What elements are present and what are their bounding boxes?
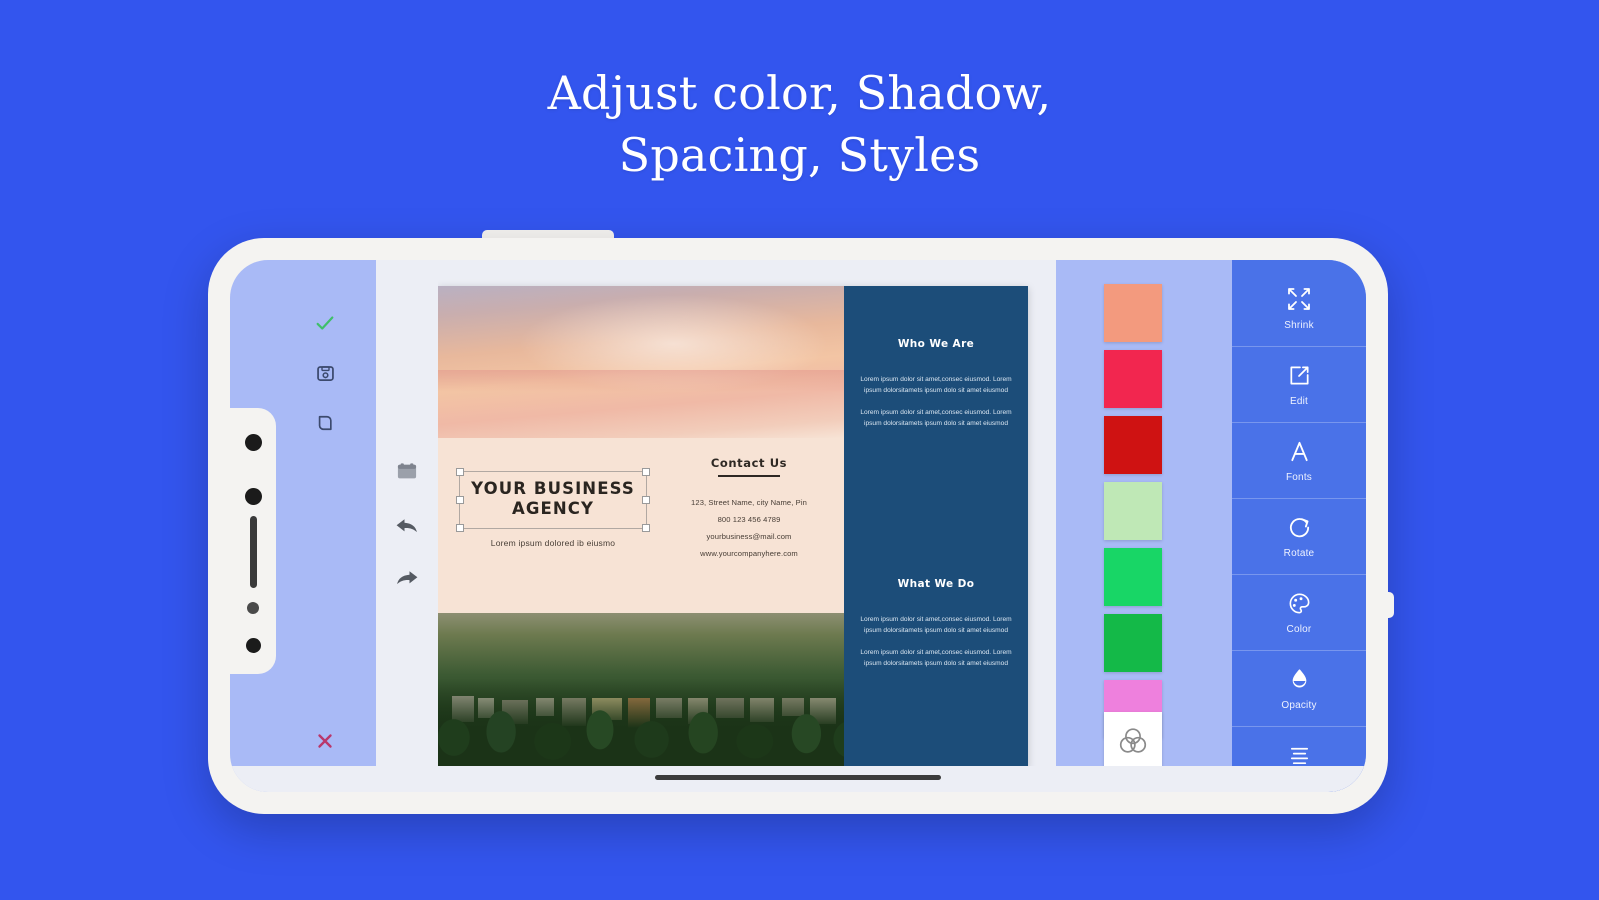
cityscape-photo bbox=[438, 613, 844, 768]
prop-label: Shrink bbox=[1284, 320, 1314, 331]
contact-heading: Contact Us bbox=[666, 456, 832, 470]
ambient-sensor-icon bbox=[246, 638, 261, 653]
shrink-arrows-icon bbox=[1286, 286, 1312, 312]
canvas-toolbar bbox=[376, 260, 438, 792]
front-camera-icon bbox=[245, 434, 262, 451]
color-swatch-salmon[interactable] bbox=[1104, 284, 1162, 342]
phone-device-frame: YOUR BUSINESS AGENCY Lorem ipsum dolored… bbox=[208, 238, 1388, 814]
redo-button[interactable] bbox=[389, 560, 425, 596]
section-heading: Who We Are bbox=[858, 338, 1014, 350]
undo-button[interactable] bbox=[389, 508, 425, 544]
shape-icon bbox=[315, 413, 335, 433]
save-button[interactable] bbox=[306, 354, 344, 392]
phone-notch bbox=[230, 408, 276, 674]
color-swatch-light-green[interactable] bbox=[1104, 482, 1162, 540]
font-a-icon bbox=[1287, 439, 1312, 464]
prop-label: Opacity bbox=[1281, 700, 1316, 711]
layers-button[interactable] bbox=[389, 454, 425, 490]
prop-label: Fonts bbox=[1286, 472, 1312, 483]
droplet-icon bbox=[1287, 667, 1312, 692]
section-body: Lorem ipsum dolor sit amet,consec eiusmo… bbox=[858, 374, 1014, 429]
resize-handle-bottom-left[interactable] bbox=[456, 524, 464, 532]
color-swatch-crimson[interactable] bbox=[1104, 350, 1162, 408]
resize-handle-bottom-right[interactable] bbox=[642, 524, 650, 532]
close-icon bbox=[314, 730, 336, 752]
home-indicator[interactable] bbox=[655, 775, 941, 780]
prop-shrink[interactable]: Shrink bbox=[1232, 270, 1366, 346]
undo-arrow-icon bbox=[394, 516, 420, 536]
contact-line: 800 123 456 4789 bbox=[666, 511, 832, 528]
prop-fonts[interactable]: Fonts bbox=[1232, 422, 1366, 498]
left-action-rail bbox=[276, 260, 376, 792]
brochure-page-right: Who We Are Lorem ipsum dolor sit amet,co… bbox=[844, 286, 1028, 768]
prop-color[interactable]: Color bbox=[1232, 574, 1366, 650]
sky-photo bbox=[438, 286, 844, 438]
section-paragraph: Lorem ipsum dolor sit amet,consec eiusmo… bbox=[858, 407, 1014, 429]
contact-divider bbox=[718, 475, 780, 477]
redo-arrow-icon bbox=[394, 568, 420, 588]
prop-label: Edit bbox=[1290, 396, 1308, 407]
prop-label: Color bbox=[1287, 624, 1312, 635]
color-swatch-spring-green[interactable] bbox=[1104, 548, 1162, 606]
brochure-document[interactable]: YOUR BUSINESS AGENCY Lorem ipsum dolored… bbox=[438, 286, 1028, 768]
document-canvas[interactable]: YOUR BUSINESS AGENCY Lorem ipsum dolored… bbox=[438, 260, 1056, 792]
section-paragraph: Lorem ipsum dolor sit amet,consec eiusmo… bbox=[858, 647, 1014, 669]
confirm-button[interactable] bbox=[306, 304, 344, 342]
shape-button[interactable] bbox=[306, 404, 344, 442]
page-title-line-2: Spacing, Styles bbox=[0, 124, 1599, 186]
contact-block[interactable]: Contact Us 123, Street Name, city Name, … bbox=[666, 456, 832, 562]
prop-rotate[interactable]: Rotate bbox=[1232, 498, 1366, 574]
color-wheel-icon bbox=[1116, 724, 1150, 758]
content-band: YOUR BUSINESS AGENCY Lorem ipsum dolored… bbox=[438, 438, 844, 613]
properties-panel: Shrink Edit Fonts bbox=[1212, 260, 1366, 792]
section-paragraph: Lorem ipsum dolor sit amet,consec eiusmo… bbox=[858, 614, 1014, 636]
resize-handle-middle-left[interactable] bbox=[456, 496, 464, 504]
color-swatch-panel bbox=[1056, 260, 1212, 792]
color-swatch-green[interactable] bbox=[1104, 614, 1162, 672]
phone-screen: YOUR BUSINESS AGENCY Lorem ipsum dolored… bbox=[230, 260, 1366, 792]
edit-pencil-icon bbox=[1287, 363, 1312, 388]
line-spacing-icon bbox=[1287, 743, 1312, 768]
color-swatch-dark-red[interactable] bbox=[1104, 416, 1162, 474]
section-body: Lorem ipsum dolor sit amet,consec eiusmo… bbox=[858, 614, 1014, 669]
section-paragraph: Lorem ipsum dolor sit amet,consec eiusmo… bbox=[858, 374, 1014, 396]
page-title: Adjust color, Shadow, Spacing, Styles bbox=[0, 62, 1599, 186]
proximity-sensor-icon bbox=[247, 602, 259, 614]
save-icon bbox=[315, 363, 336, 384]
prop-label: Rotate bbox=[1284, 548, 1315, 559]
properties-list: Shrink Edit Fonts bbox=[1232, 260, 1366, 792]
page-title-line-1: Adjust color, Shadow, bbox=[0, 62, 1599, 124]
business-title-line-1: YOUR BUSINESS bbox=[464, 479, 642, 499]
section-who-we-are: Who We Are Lorem ipsum dolor sit amet,co… bbox=[858, 338, 1014, 429]
prop-edit[interactable]: Edit bbox=[1232, 346, 1366, 422]
cancel-button[interactable] bbox=[306, 722, 344, 760]
phone-side-button[interactable] bbox=[1382, 592, 1394, 618]
title-text-block[interactable]: YOUR BUSINESS AGENCY bbox=[460, 472, 646, 528]
check-icon bbox=[314, 312, 336, 334]
color-palette-icon bbox=[1287, 591, 1312, 616]
rotate-icon bbox=[1287, 515, 1312, 540]
tree-line bbox=[438, 678, 844, 768]
promo-screenshot: Adjust color, Shadow, Spacing, Styles bbox=[0, 0, 1599, 900]
resize-handle-middle-right[interactable] bbox=[642, 496, 650, 504]
earpiece-speaker bbox=[250, 516, 257, 588]
section-what-we-do: What We Do Lorem ipsum dolor sit amet,co… bbox=[858, 578, 1014, 669]
resize-handle-top-left[interactable] bbox=[456, 468, 464, 476]
custom-color-picker-button[interactable] bbox=[1104, 712, 1162, 770]
business-title-line-2: AGENCY bbox=[464, 499, 642, 519]
contact-line: 123, Street Name, city Name, Pin bbox=[666, 494, 832, 511]
brochure-page-left: YOUR BUSINESS AGENCY Lorem ipsum dolored… bbox=[438, 286, 844, 768]
contact-line: www.yourcompanyhere.com bbox=[666, 545, 832, 562]
sensor-dot-icon bbox=[245, 488, 262, 505]
section-heading: What We Do bbox=[858, 578, 1014, 590]
tagline-text[interactable]: Lorem ipsum dolored ib eiusmo bbox=[460, 538, 646, 548]
contact-line: yourbusiness@mail.com bbox=[666, 528, 832, 545]
layers-icon bbox=[396, 462, 418, 482]
resize-handle-top-right[interactable] bbox=[642, 468, 650, 476]
prop-opacity[interactable]: Opacity bbox=[1232, 650, 1366, 726]
